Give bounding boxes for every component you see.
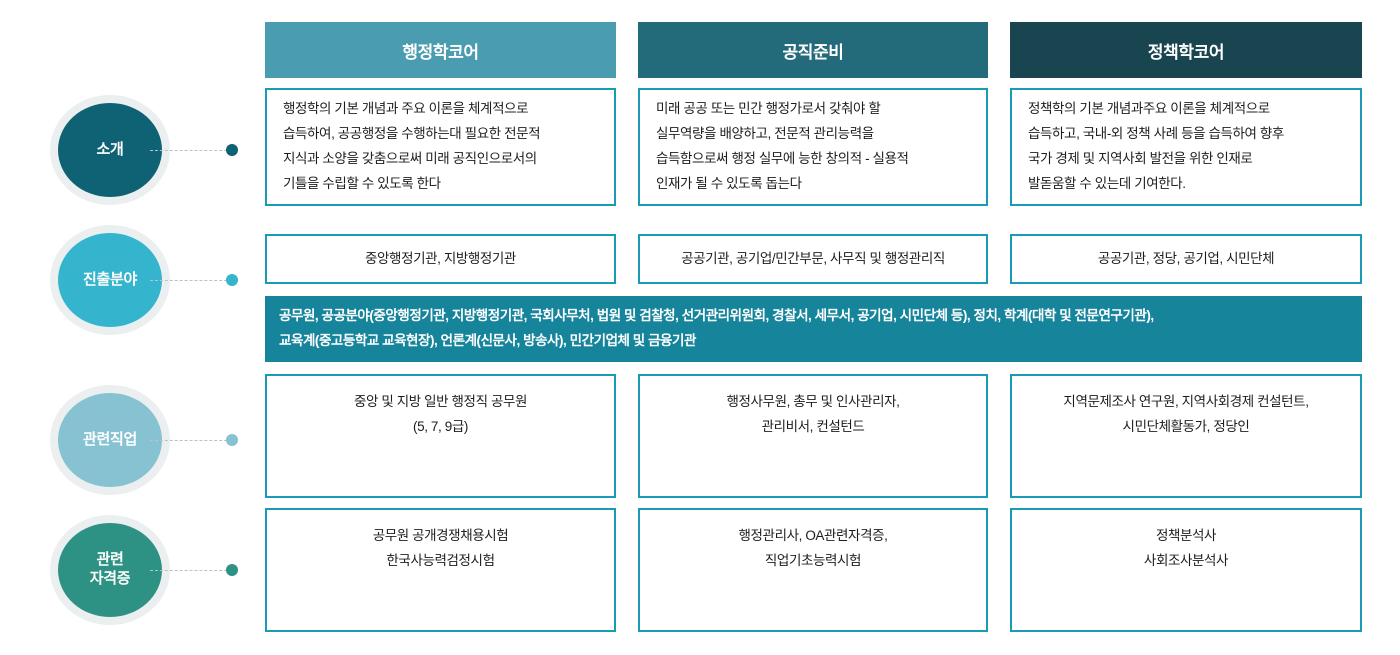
intro-card-col2: 미래 공공 또는 민간 행정가로서 갖춰야 할 실무역량을 배양하고, 전문적 …: [638, 88, 988, 206]
job-line: 시민단체활동가, 정당인: [1024, 415, 1348, 440]
cert-card-col1: 공무원 공개경쟁채용시험 한국사능력검정시험: [265, 508, 616, 632]
column-header-jeongchaekhak-core: 정책학코어: [1010, 22, 1362, 78]
curriculum-diagram: 행정학코어 공직준비 정책학코어 소개 행정학의 기본 개념과 주요 이론을 체…: [0, 0, 1400, 655]
cert-line: 공무원 공개경쟁채용시험: [279, 524, 602, 549]
field-banner-line: 교육계(중고등학교 교육현장), 언론계(신문사, 방송사), 민간기업체 및 …: [279, 329, 1348, 354]
field-card-col3: 공공기관, 정당, 공기업, 시민단체: [1010, 234, 1362, 284]
job-line: 행정사무원, 총무 및 인사관리자,: [652, 390, 974, 415]
cert-line: 직업기초능력시험: [652, 549, 974, 574]
connector-dot-job: [226, 434, 238, 446]
job-card-col1: 중앙 및 지방 일반 행정직 공무원 (5, 7, 9급): [265, 374, 616, 498]
cert-card-col2: 행정관리사, OA관련자격증, 직업기초능력시험: [638, 508, 988, 632]
intro-line: 실무역량을 배양하고, 전문적 관리능력을: [656, 122, 970, 147]
connector-line-field: [150, 280, 232, 282]
column-header-label: 정책학코어: [1148, 38, 1224, 63]
field-line: 공공기관, 공기업/민간부문, 사무직 및 행정관리직: [652, 247, 974, 272]
cert-line: 행정관리사, OA관련자격증,: [652, 524, 974, 549]
column-header-haengjeonghak-core: 행정학코어: [265, 22, 616, 78]
row-circle-intro: 소개: [58, 103, 162, 197]
job-line: 관리비서, 컨설턴드: [652, 415, 974, 440]
intro-line: 국가 경제 및 지역사회 발전을 위한 인재로: [1028, 147, 1344, 172]
row-circle-cert: 관련 자격증: [58, 523, 162, 617]
job-line: (5, 7, 9급): [279, 415, 602, 440]
job-line: 지역문제조사 연구원, 지역사회경제 컨설턴트,: [1024, 390, 1348, 415]
cert-card-col3: 정책분석사 사회조사분석사: [1010, 508, 1362, 632]
field-card-col1: 중앙행정기관, 지방행정기관: [265, 234, 616, 284]
row-circle-job: 관련직업: [58, 393, 162, 487]
row-label-line2: 자격증: [90, 570, 131, 587]
intro-card-col1: 행정학의 기본 개념과 주요 이론을 체계적으로 습득하여, 공공행정을 수행하…: [265, 88, 616, 206]
job-card-col3: 지역문제조사 연구원, 지역사회경제 컨설턴트, 시민단체활동가, 정당인: [1010, 374, 1362, 498]
field-banner-line: 공무원, 공공분야(중앙행정기관, 지방행정기관, 국회사무처, 법원 및 검찰…: [279, 304, 1348, 329]
cert-line: 정책분석사: [1024, 524, 1348, 549]
row-label-line1: 관련: [96, 551, 123, 568]
row-label-text: 관련직업: [83, 431, 137, 450]
connector-dot-field: [226, 274, 238, 286]
row-label-text: 소개: [96, 141, 123, 160]
job-card-col2: 행정사무원, 총무 및 인사관리자, 관리비서, 컨설턴드: [638, 374, 988, 498]
row-label-text: 진출분야: [83, 271, 137, 290]
intro-line: 습득하고, 국내-외 정책 사례 등을 습득하여 향후: [1028, 122, 1344, 147]
intro-line: 습득함으로써 행정 실무에 능한 창의적 - 실용적: [656, 147, 970, 172]
cert-line: 한국사능력검정시험: [279, 549, 602, 574]
intro-line: 미래 공공 또는 민간 행정가로서 갖춰야 할: [656, 97, 970, 122]
cert-line: 사회조사분석사: [1024, 549, 1348, 574]
row-circle-field: 진출분야: [58, 233, 162, 327]
connector-line-intro: [150, 150, 232, 152]
field-banner: 공무원, 공공분야(중앙행정기관, 지방행정기관, 국회사무처, 법원 및 검찰…: [265, 296, 1362, 362]
intro-line: 정책학의 기본 개념과주요 이론을 체계적으로: [1028, 97, 1344, 122]
connector-dot-cert: [226, 564, 238, 576]
intro-line: 발돋움할 수 있는데 기여한다.: [1028, 172, 1344, 197]
column-header-label: 행정학코어: [402, 38, 478, 63]
column-header-gongjik-junbi: 공직준비: [638, 22, 988, 78]
field-card-col2: 공공기관, 공기업/민간부문, 사무직 및 행정관리직: [638, 234, 988, 284]
intro-line: 지식과 소양을 갖춤으로써 미래 공직인으로서의: [283, 147, 598, 172]
row-label-text-block: 관련 자격증: [90, 551, 131, 589]
field-line: 중앙행정기관, 지방행정기관: [279, 247, 602, 272]
intro-line: 습득하여, 공공행정을 수행하는대 필요한 전문적: [283, 122, 598, 147]
intro-card-col3: 정책학의 기본 개념과주요 이론을 체계적으로 습득하고, 국내-외 정책 사례…: [1010, 88, 1362, 206]
connector-line-cert: [150, 570, 232, 572]
field-line: 공공기관, 정당, 공기업, 시민단체: [1024, 247, 1348, 272]
column-header-label: 공직준비: [783, 38, 844, 63]
intro-line: 인재가 될 수 있도록 돕는다: [656, 172, 970, 197]
job-line: 중앙 및 지방 일반 행정직 공무원: [279, 390, 602, 415]
connector-dot-intro: [226, 144, 238, 156]
intro-line: 행정학의 기본 개념과 주요 이론을 체계적으로: [283, 97, 598, 122]
intro-line: 기틀을 수립할 수 있도록 한다: [283, 172, 598, 197]
connector-line-job: [150, 440, 232, 442]
